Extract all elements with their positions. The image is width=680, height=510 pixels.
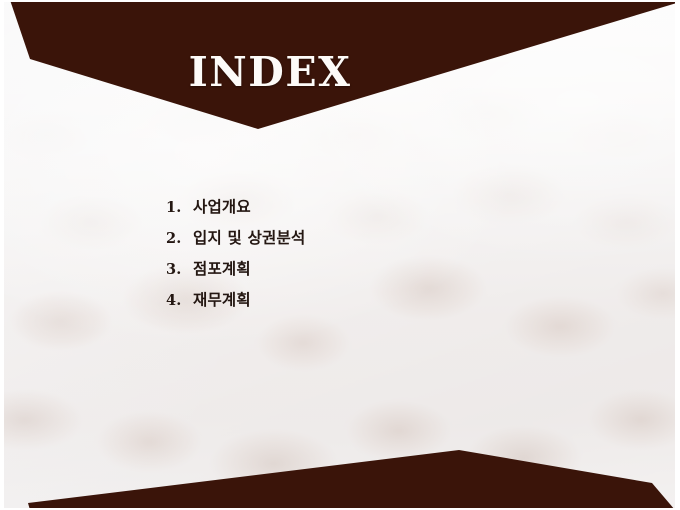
list-item-label: 점포계획 [193, 258, 251, 280]
list-item-number: 4. [166, 290, 193, 312]
index-list: 1. 사업개요 2. 입지 및 상권분석 3. 점포계획 4. 재무계획 [166, 196, 586, 320]
list-item[interactable]: 4. 재무계획 [166, 289, 586, 312]
list-item-label: 입지 및 상권분석 [193, 227, 305, 249]
list-item-label: 재무계획 [193, 289, 251, 311]
presentation-slide: INDEX 1. 사업개요 2. 입지 및 상권분석 3. 점포계획 4. 재무… [0, 0, 680, 510]
list-item-number: 3. [166, 259, 193, 281]
list-item[interactable]: 3. 점포계획 [166, 258, 586, 281]
list-item-number: 1. [166, 197, 193, 219]
list-item-number: 2. [166, 228, 193, 250]
list-item-label: 사업개요 [193, 196, 251, 218]
list-item[interactable]: 1. 사업개요 [166, 196, 586, 219]
list-item[interactable]: 2. 입지 및 상권분석 [166, 227, 586, 250]
page-title: INDEX [0, 52, 680, 93]
